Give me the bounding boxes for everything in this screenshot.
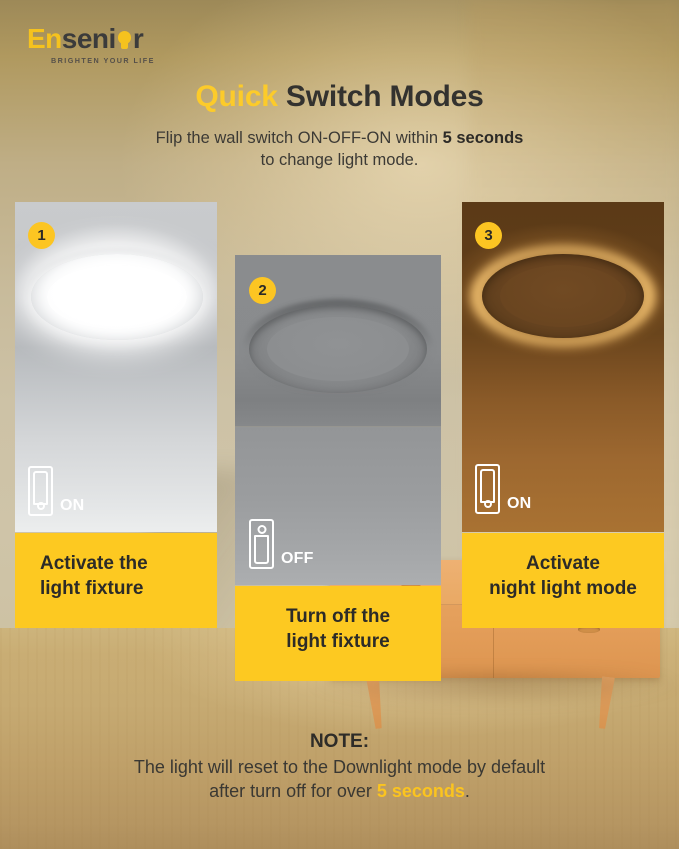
step-panel-1: 1 ON <box>15 202 217 532</box>
wall-switch-indicator-2: OFF <box>249 519 314 569</box>
brand-logo: Ensenir BRIGHTEN YOUR LIFE <box>27 25 177 65</box>
brand-wordmark: Ensenir <box>27 25 177 53</box>
step-caption-3: Activate night light mode <box>462 533 664 628</box>
step-2-caption-line1: Turn off the <box>286 606 390 627</box>
step-3-caption-line2: night light mode <box>489 578 637 599</box>
ceiling-light-fixture-off <box>249 305 427 393</box>
brand-name-part2: seni <box>62 23 116 54</box>
subtitle-duration: 5 seconds <box>443 129 524 147</box>
step-caption-2: Turn off the light fixture <box>235 586 441 681</box>
wall-switch-indicator-3: ON <box>475 464 531 514</box>
step-2-caption-line2: light fixture <box>286 631 389 652</box>
switch-state-label-1: ON <box>60 498 84 516</box>
page-title-highlight: Quick <box>195 80 277 113</box>
rocker-switch-off-icon <box>249 519 274 569</box>
step-1-caption-line2: light fixture <box>40 578 143 599</box>
page-subtitle: Flip the wall switch ON-OFF-ON within 5 … <box>0 128 679 172</box>
page-title-rest: Switch Modes <box>278 80 484 113</box>
rocker-switch-on-icon <box>475 464 500 514</box>
ceiling-light-fixture-nightlight <box>482 254 644 338</box>
step-badge-2: 2 <box>249 277 276 304</box>
switch-state-label-2: OFF <box>281 551 314 569</box>
note-line2-tail: . <box>465 781 470 801</box>
page-title: Quick Switch Modes <box>0 80 679 114</box>
brand-tagline: BRIGHTEN YOUR LIFE <box>51 56 177 65</box>
step-caption-1: Activate the light fixture <box>15 533 217 628</box>
step-badge-1: 1 <box>28 222 55 249</box>
switch-state-label-3: ON <box>507 496 531 514</box>
note-line1: The light will reset to the Downlight mo… <box>134 757 545 777</box>
step-badge-3: 3 <box>475 222 502 249</box>
step-3-caption-line1: Activate <box>526 553 600 574</box>
subtitle-line1-lead: Flip the wall switch ON-OFF-ON within <box>156 129 443 147</box>
brand-name-part1: En <box>27 23 62 54</box>
ceiling-light-fixture-bright <box>31 254 203 340</box>
note-title: NOTE: <box>0 730 679 754</box>
step-panel-3: 3 ON <box>462 202 664 532</box>
subtitle-line2: to change light mode. <box>261 151 419 169</box>
infographic-page: Ensenir BRIGHTEN YOUR LIFE Quick Switch … <box>0 0 679 849</box>
step-panel-2: 2 OFF <box>235 255 441 585</box>
lightbulb-icon <box>116 31 133 51</box>
note-body: The light will reset to the Downlight mo… <box>0 755 679 804</box>
note-duration: 5 seconds <box>377 781 465 801</box>
step-1-caption-line1: Activate the <box>40 553 148 574</box>
rocker-switch-on-icon <box>28 466 53 516</box>
brand-name-part3: r <box>133 23 143 54</box>
wall-switch-indicator-1: ON <box>28 466 84 516</box>
note-section: NOTE: The light will reset to the Downli… <box>0 730 679 803</box>
note-line2-lead: after turn off for over <box>209 781 377 801</box>
